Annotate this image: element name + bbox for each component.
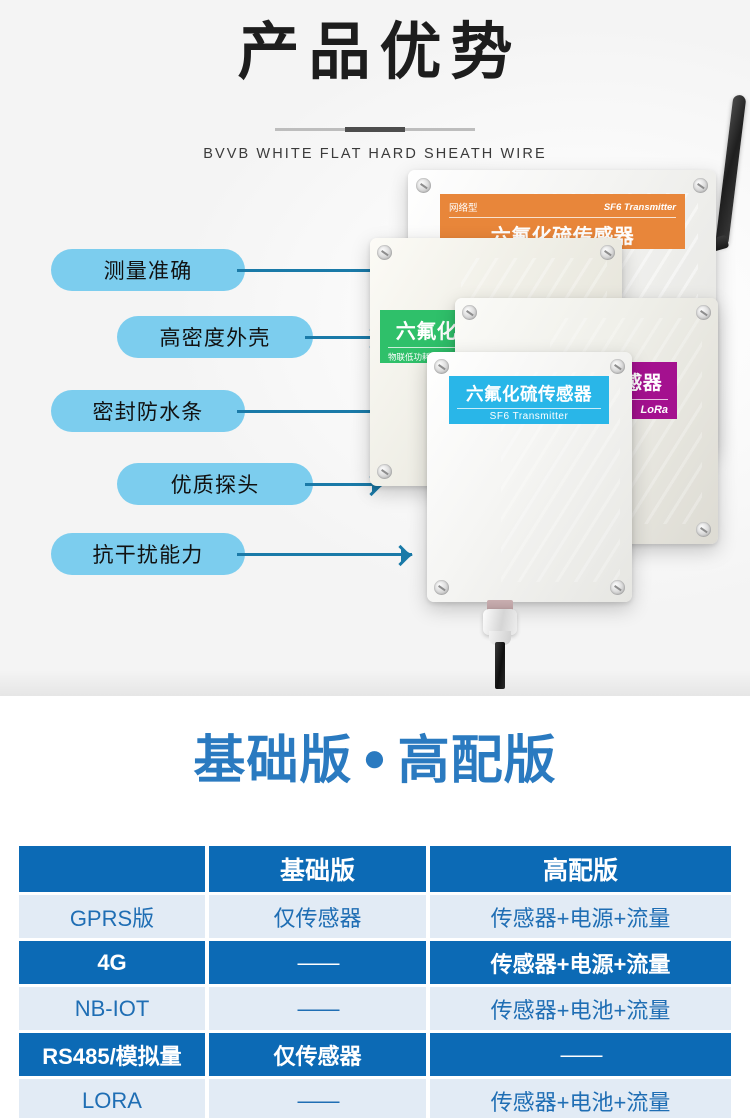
cell-basic: —— — [209, 1079, 426, 1118]
editions-heading-left: 基础版 — [193, 732, 352, 790]
feature-item-5: 抗干扰能力 — [51, 533, 381, 575]
table-row: LORA —— 传感器+电池+流量 — [19, 1079, 731, 1118]
hero-section: 产品优势 BVVB WHITE FLAT HARD SHEATH WIRE 测量… — [0, 0, 750, 696]
table-row: GPRS版 仅传感器 传感器+电源+流量 — [19, 895, 731, 938]
table-row: RS485/模拟量 仅传感器 —— — [19, 1033, 731, 1076]
cell-basic: 仅传感器 — [209, 1033, 426, 1076]
product-advantage-page: 产品优势 BVVB WHITE FLAT HARD SHEATH WIRE 测量… — [0, 0, 750, 1118]
product-label-3-tag-right: LoRa — [641, 404, 669, 416]
feature-list: 测量准确 高密度外壳 密封防水条 优质探头 抗干扰能力 — [0, 0, 400, 696]
cell-premium: —— — [430, 1033, 731, 1076]
feature-pill-3: 密封防水条 — [51, 390, 245, 432]
product-photo-group: 网络型 SF6 Transmitter 六氟化硫传感器 六氟化硫传感器 — [370, 90, 750, 690]
screw-icon — [600, 245, 615, 260]
editions-heading-right: 高配版 — [398, 732, 557, 790]
product-label-1-tag-left: 网络型 — [449, 200, 478, 214]
screw-icon — [693, 178, 708, 193]
product-label-1-tag-right: SF6 Transmitter — [604, 202, 676, 213]
feature-item-4: 优质探头 — [117, 463, 382, 505]
screw-icon — [610, 359, 625, 374]
cell-basic: —— — [209, 987, 426, 1030]
antenna-rod — [715, 94, 746, 246]
editions-heading-dot: ● — [352, 736, 397, 780]
cell-model: NB-IOT — [19, 987, 205, 1030]
product-label-4-name: 六氟化硫传感器 — [457, 381, 601, 406]
product-device-4: 六氟化硫传感器 SF6 Transmitter — [427, 352, 632, 602]
editions-heading: 基础版●高配版 — [0, 735, 750, 787]
table-header-model — [19, 846, 205, 892]
table-header-premium: 高配版 — [430, 846, 731, 892]
editions-table: 基础版 高配版 GPRS版 仅传感器 传感器+电源+流量 4G —— 传感器+电… — [19, 846, 731, 1118]
screw-icon — [434, 359, 449, 374]
cell-basic: —— — [209, 941, 426, 984]
screw-icon — [416, 178, 431, 193]
screw-icon — [434, 580, 449, 595]
table-row: NB-IOT —— 传感器+电池+流量 — [19, 987, 731, 1030]
product-label-4-tag-right: SF6 Transmitter — [457, 411, 601, 422]
product-label-2-tag-left: 物联低功耗 — [388, 351, 431, 363]
feature-item-2: 高密度外壳 — [117, 316, 382, 358]
feature-pill-5: 抗干扰能力 — [51, 533, 245, 575]
cell-basic: 仅传感器 — [209, 895, 426, 938]
cell-premium: 传感器+电源+流量 — [430, 895, 731, 938]
table-header-row: 基础版 高配版 — [19, 846, 731, 892]
cell-premium: 传感器+电池+流量 — [430, 987, 731, 1030]
screw-icon — [377, 245, 392, 260]
table-header-basic: 基础版 — [209, 846, 426, 892]
feature-item-1: 测量准确 — [51, 249, 381, 291]
cell-premium: 传感器+电源+流量 — [430, 941, 731, 984]
screw-icon — [377, 464, 392, 479]
sensor-cable — [495, 642, 505, 689]
feature-pill-2: 高密度外壳 — [117, 316, 313, 358]
product-label-4: 六氟化硫传感器 SF6 Transmitter — [449, 376, 609, 424]
feature-item-3: 密封防水条 — [51, 390, 381, 432]
screw-icon — [696, 305, 711, 320]
cell-model: GPRS版 — [19, 895, 205, 938]
screw-icon — [462, 305, 477, 320]
table-row: 4G —— 传感器+电源+流量 — [19, 941, 731, 984]
cell-model: LORA — [19, 1079, 205, 1118]
cell-model: RS485/模拟量 — [19, 1033, 205, 1076]
feature-pill-1: 测量准确 — [51, 249, 245, 291]
screw-icon — [696, 522, 711, 537]
cell-premium: 传感器+电池+流量 — [430, 1079, 731, 1118]
feature-pill-4: 优质探头 — [117, 463, 313, 505]
cell-model: 4G — [19, 941, 205, 984]
screw-icon — [610, 580, 625, 595]
